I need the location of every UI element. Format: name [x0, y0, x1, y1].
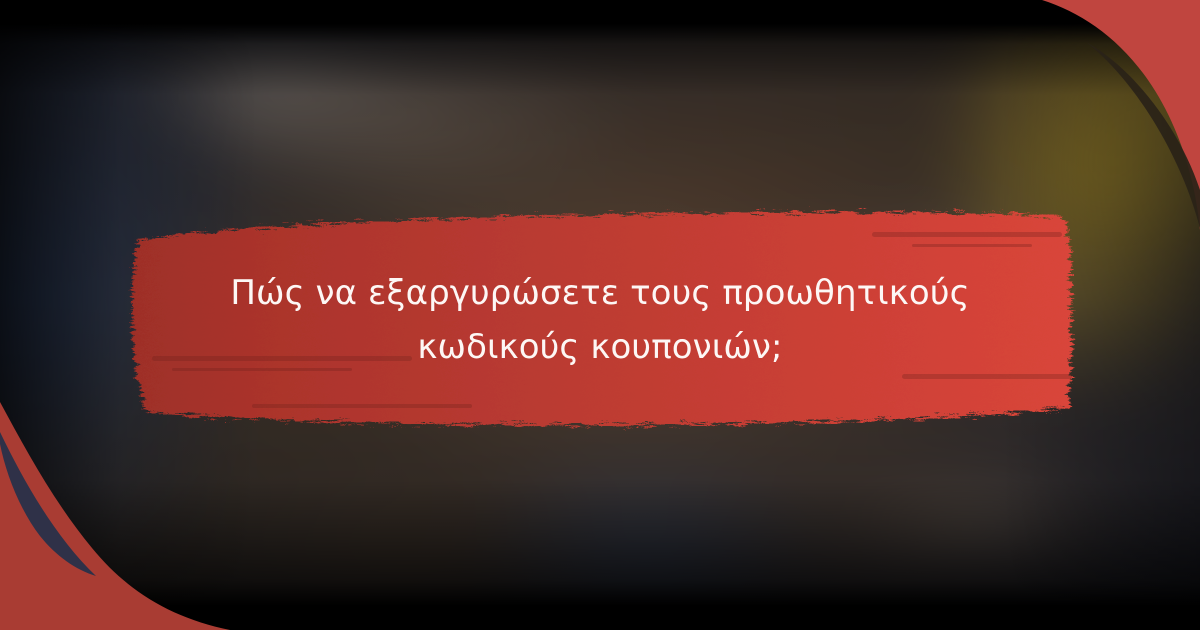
share-card-canvas: Πώς να εξαργυρώσετε τους προωθητικούς κω…: [0, 0, 1200, 630]
headline-line-1: Πώς να εξαργυρώσετε τους προωθητικούς: [230, 267, 969, 321]
headline-text: Πώς να εξαργυρώσετε τους προωθητικούς κω…: [150, 196, 1050, 446]
headline-line-2: κωδικούς κουπονιών;: [417, 321, 782, 375]
